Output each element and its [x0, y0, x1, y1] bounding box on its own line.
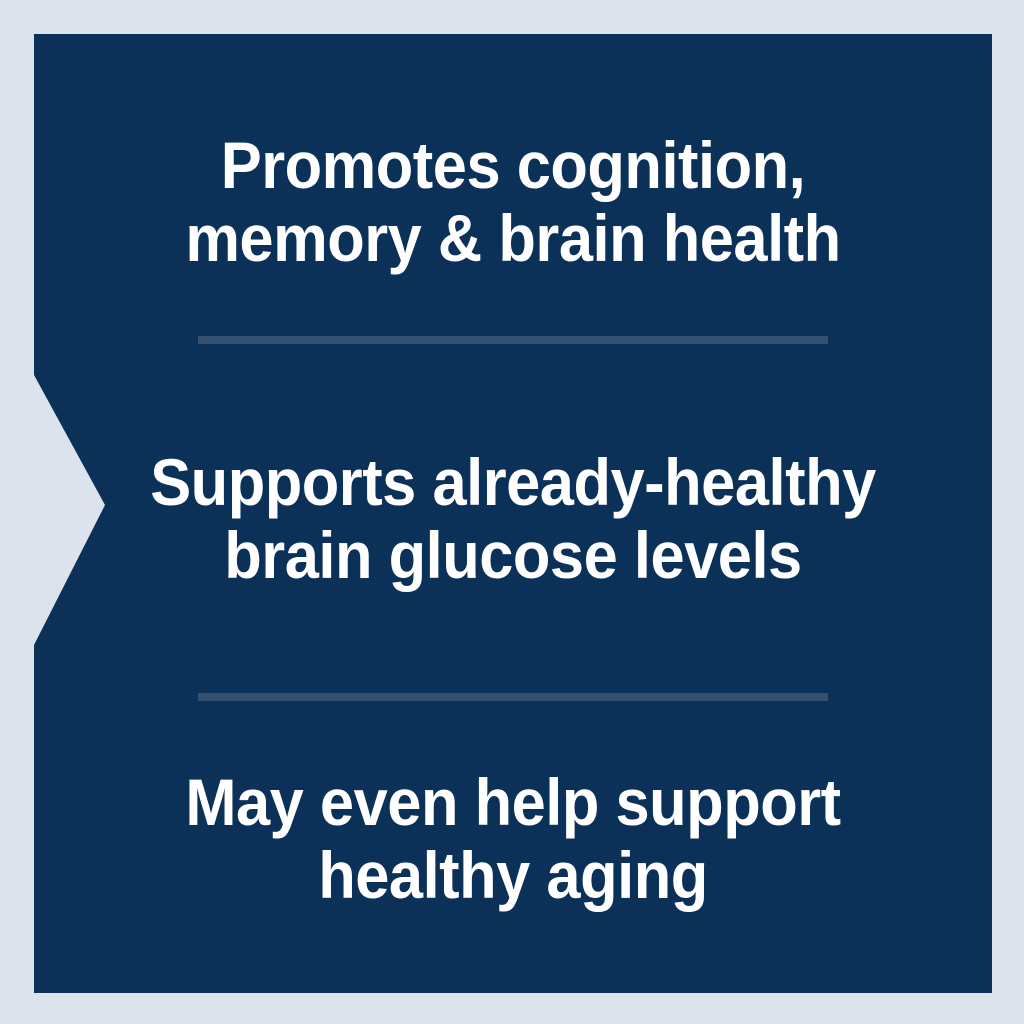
- product-benefits-card: Promotes cognition, memory & brain healt…: [0, 0, 1024, 1024]
- benefit-item-aging: May even help support healthy aging: [34, 701, 992, 977]
- benefit-text-aging: May even help support healthy aging: [104, 766, 922, 911]
- benefit-text-cognition: Promotes cognition, memory & brain healt…: [104, 129, 922, 274]
- benefit-item-glucose: Supports already-healthy brain glucose l…: [34, 344, 992, 693]
- benefit-divider-1: [198, 336, 828, 344]
- benefit-text-glucose: Supports already-healthy brain glucose l…: [104, 446, 922, 591]
- benefit-item-cognition: Promotes cognition, memory & brain healt…: [34, 68, 992, 336]
- benefits-content: Promotes cognition, memory & brain healt…: [34, 34, 992, 993]
- benefit-divider-2: [198, 693, 828, 701]
